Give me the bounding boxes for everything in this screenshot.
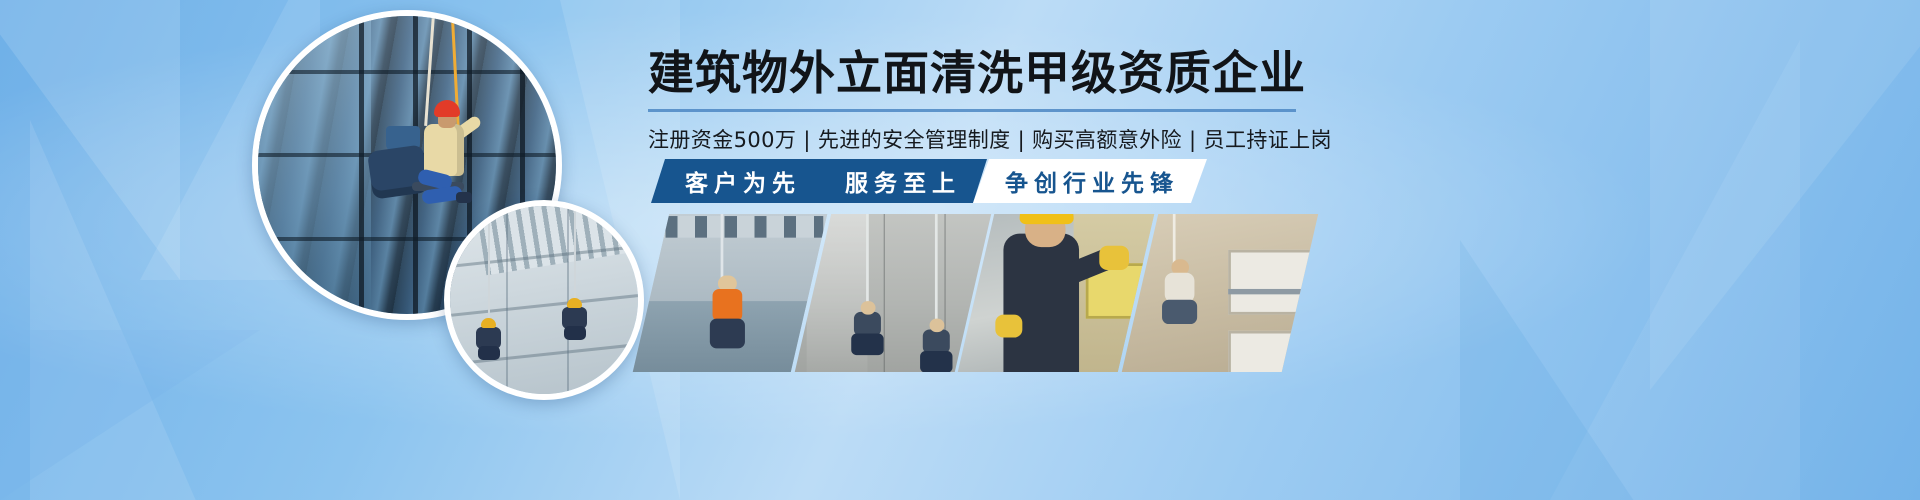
photo-panel-4	[1121, 214, 1317, 372]
page-title: 建筑物外立面清洗甲级资质企业	[648, 48, 1308, 100]
promo-banner: 建筑物外立面清洗甲级资质企业 注册资金500万 | 先进的安全管理制度 | 购买…	[0, 0, 1920, 500]
photo-panel-3	[958, 214, 1154, 372]
circle-photo-wall-workers	[444, 200, 644, 400]
photo-strip	[651, 214, 1299, 372]
slogan-ribbon-dark: 客户为先 服务至上	[651, 159, 987, 203]
title-divider	[648, 109, 1296, 112]
slogan-ribbon: 客户为先 服务至上 争创行业先锋	[651, 159, 1207, 203]
subtitle-features: 注册资金500万 | 先进的安全管理制度 | 购买高额意外险 | 员工持证上岗	[648, 124, 1308, 154]
slogan-ribbon-light: 争创行业先锋	[973, 159, 1207, 203]
photo-panel-2	[794, 214, 990, 372]
wall-worker-left	[472, 318, 506, 360]
headline-block: 建筑物外立面清洗甲级资质企业 注册资金500万 | 先进的安全管理制度 | 购买…	[648, 48, 1308, 154]
wall-worker-right	[558, 298, 592, 340]
grey-wall-artwork	[450, 206, 638, 394]
photo-panel-1	[633, 214, 827, 372]
slogan-customer-first: 客户为先	[685, 164, 801, 198]
slogan-industry-pioneer: 争创行业先锋	[1005, 164, 1179, 198]
slogan-service-supreme: 服务至上	[845, 164, 961, 198]
